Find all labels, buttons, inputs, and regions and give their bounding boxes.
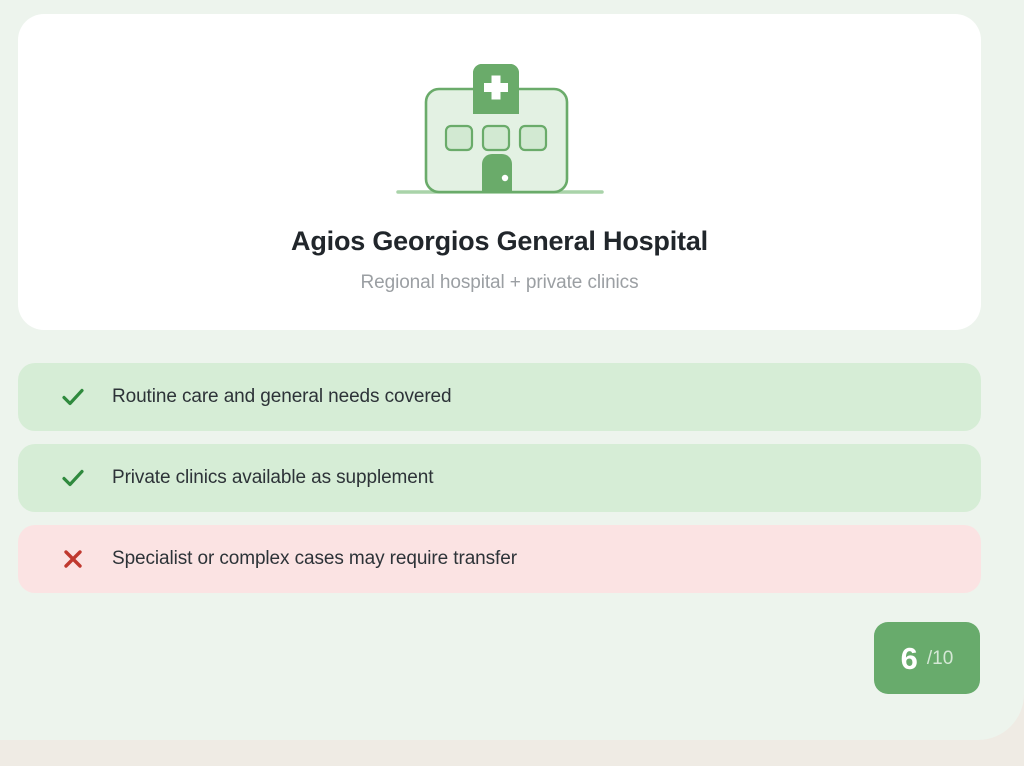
page-panel: Agios Georgios General Hospital Regional… (0, 0, 1024, 740)
list-item-label: Routine care and general needs covered (112, 386, 452, 408)
check-icon (56, 384, 90, 410)
list-item-label: Private clinics available as supplement (112, 467, 433, 489)
list-item: Routine care and general needs covered (18, 363, 981, 431)
list-item: Private clinics available as supplement (18, 444, 981, 512)
page-title: Agios Georgios General Hospital (18, 226, 981, 257)
score-max-label: /10 (927, 649, 953, 668)
hospital-building-icon (18, 48, 981, 208)
page-subtitle: Regional hospital + private clinics (18, 272, 981, 294)
list-item-label: Specialist or complex cases may require … (112, 548, 517, 570)
score-value: 6 (901, 643, 918, 674)
hospital-hero-card: Agios Georgios General Hospital Regional… (18, 14, 981, 330)
cross-icon (56, 547, 90, 571)
list-item: Specialist or complex cases may require … (18, 525, 981, 593)
check-icon (56, 465, 90, 491)
score-badge: 6 /10 (874, 622, 980, 694)
